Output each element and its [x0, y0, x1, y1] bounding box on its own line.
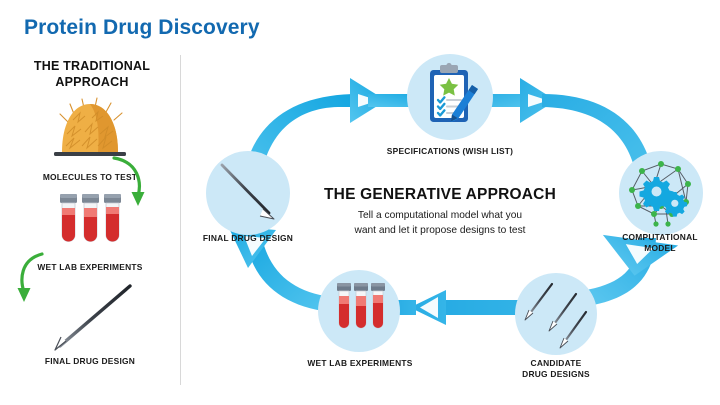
- label-candidate-drug-designs: CANDIDATE DRUG DESIGNS: [496, 358, 616, 380]
- label-final-drug-design-cycle: FINAL DRUG DESIGN: [188, 233, 308, 244]
- cycle-node-final-design[interactable]: [205, 150, 291, 236]
- center-subtitle-line2: want and let it propose designs to test: [354, 225, 525, 236]
- slide-canvas: Protein Drug Discovery THE TRADITIONAL A…: [0, 0, 720, 405]
- page-title: Protein Drug Discovery: [24, 16, 260, 40]
- left-panel-heading: THE TRADITIONAL APPROACH: [12, 58, 172, 90]
- needle-icon: [46, 284, 136, 356]
- label-specifications: SPECIFICATIONS (WISH LIST): [385, 146, 515, 157]
- cycle-node-candidate-designs[interactable]: [514, 272, 598, 356]
- test-tubes-icon: [52, 192, 128, 254]
- cycle-node-computational-model[interactable]: [618, 150, 704, 236]
- label-computational-model: COMPUTATIONAL MODEL: [600, 232, 720, 254]
- test-tubes-icon: [337, 283, 385, 328]
- cycle-node-wet-lab[interactable]: [317, 269, 401, 353]
- cycle-node-specifications[interactable]: [406, 53, 494, 141]
- center-heading: THE GENERATIVE APPROACH: [300, 186, 580, 204]
- center-subtitle: Tell a computational model what you want…: [292, 208, 588, 238]
- center-subtitle-line1: Tell a computational model what you: [358, 210, 522, 221]
- label-final-drug-design-left: FINAL DRUG DESIGN: [12, 356, 168, 367]
- label-wet-lab-experiments-cycle: WET LAB EXPERIMENTS: [295, 358, 425, 369]
- column-divider: [180, 55, 181, 385]
